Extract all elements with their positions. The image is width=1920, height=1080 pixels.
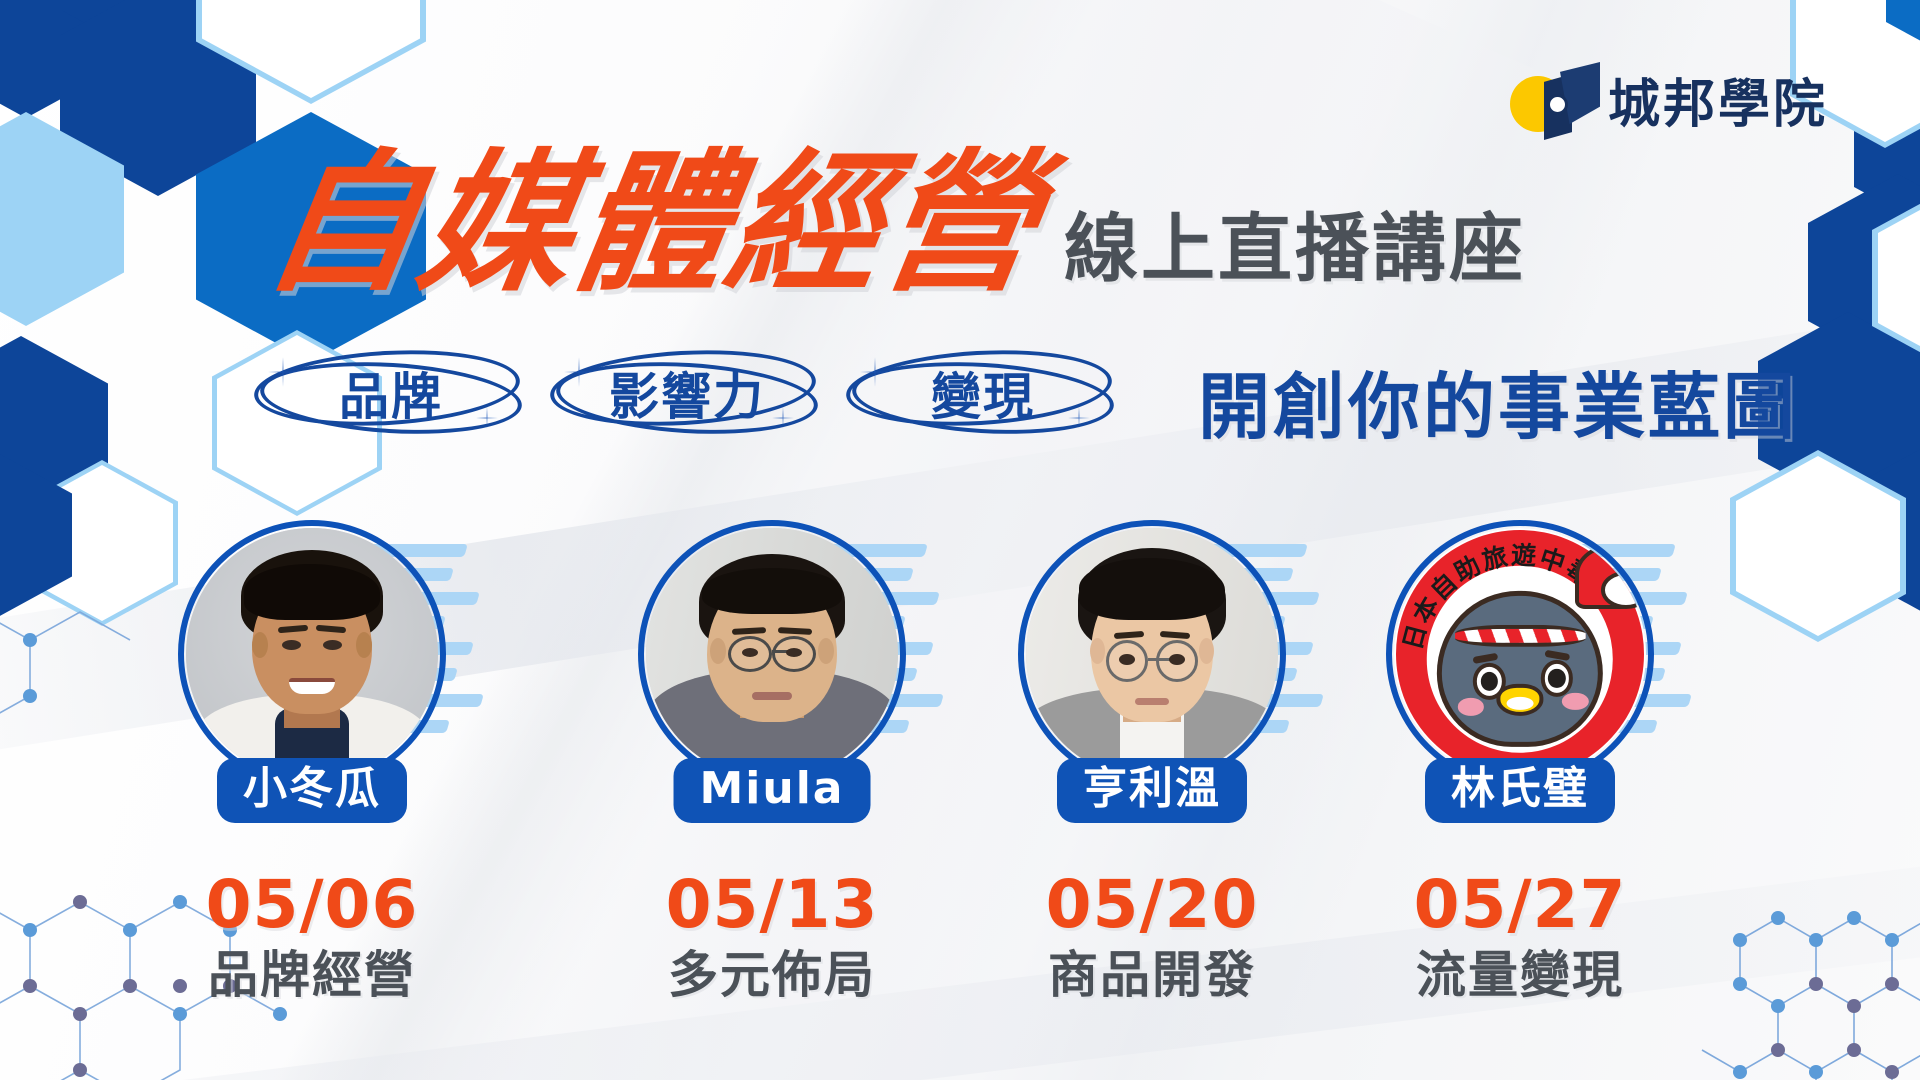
keyword-pill: 變現 (842, 345, 1124, 441)
brand-logo[interactable]: 城邦學院 (1510, 58, 1828, 140)
speaker-name-badge: 林氏璧 (1425, 758, 1615, 823)
sparkle-icon (860, 357, 890, 387)
brand-name: 城邦學院 (1608, 62, 1828, 137)
speaker-date: 05/13 (622, 872, 922, 938)
speaker-ring (1386, 520, 1654, 788)
sparkle-icon (268, 357, 298, 387)
cityfamily-academy-logo-icon (1510, 58, 1594, 140)
speaker-card[interactable]: 小冬瓜 05/06 品牌經營 (162, 520, 462, 1000)
molecule-lattice-bottom-right (1700, 870, 1920, 1080)
speaker-ring (1018, 520, 1286, 788)
sparkle-icon (772, 407, 794, 429)
speaker-topic: 多元佈局 (622, 950, 922, 1000)
sparkle-icon (564, 357, 594, 387)
keyword-pill-label: 影響力 (609, 357, 765, 429)
speaker-card[interactable]: Miula 05/13 多元佈局 (622, 520, 922, 1000)
speaker-card[interactable]: 日本自助旅遊中毒者 (1370, 520, 1670, 1000)
speaker-name-badge: Miula (674, 758, 871, 823)
page-subtitle: 線上直播講座 (1064, 212, 1526, 300)
keyword-pill-label: 變現 (931, 357, 1035, 429)
speaker-ring (178, 520, 446, 788)
speaker-topic: 商品開發 (1002, 950, 1302, 1000)
tagline: 開創你的事業藍圖 (1198, 348, 1798, 453)
speaker-date: 05/27 (1370, 872, 1670, 938)
speaker-date: 05/06 (162, 872, 462, 938)
keyword-pill-row: 品牌 影響力 變現 (250, 345, 1124, 441)
poster-canvas: 城邦學院 自媒體經營 線上直播講座 品牌 影響力 變現 開創你的事業藍圖 (0, 0, 1920, 1080)
sparkle-icon (1068, 407, 1090, 429)
speaker-ring (638, 520, 906, 788)
speaker-card[interactable]: 亨利溫 05/20 商品開發 (1002, 520, 1302, 1000)
speaker-name-badge: 小冬瓜 (217, 758, 407, 823)
speaker-date: 05/20 (1002, 872, 1302, 938)
page-title: 自媒體經營 (256, 148, 1050, 300)
keyword-pill-label: 品牌 (339, 357, 443, 429)
speaker-topic: 品牌經營 (162, 950, 462, 1000)
keyword-pill: 影響力 (546, 345, 828, 441)
speaker-name-badge: 亨利溫 (1057, 758, 1247, 823)
keyword-pill: 品牌 (250, 345, 532, 441)
headline-block: 自媒體經營 線上直播講座 (268, 148, 1526, 300)
speaker-topic: 流量變現 (1370, 950, 1670, 1000)
sparkle-icon (476, 407, 498, 429)
